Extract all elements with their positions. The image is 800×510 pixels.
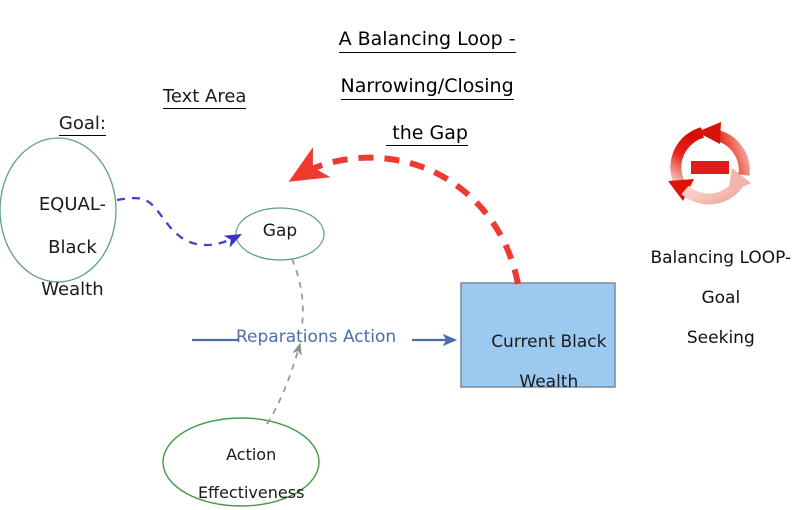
goal-to-gap-dashed-arrow[interactable]	[117, 198, 240, 245]
goal-ellipse-label-line-3: Wealth	[41, 279, 103, 300]
goal-ellipse-label-line-1: EQUAL-	[39, 194, 106, 215]
balancing-loop-caption-line-2: Goal	[701, 288, 740, 308]
loop-minus-sign	[691, 161, 729, 174]
loop-arc-left	[676, 133, 703, 185]
action-effectiveness-label-line-1: Action	[226, 445, 276, 464]
action-effectiveness-ellipse-label: Action Effectiveness Factor	[163, 427, 319, 510]
goal-label: Goal:	[36, 92, 106, 158]
text-area-label-text: Text Area	[163, 86, 247, 109]
current-black-wealth-label-line-2: Wealth	[519, 372, 578, 392]
page-title-line-1: A Balancing Loop -	[339, 28, 516, 52]
balancing-loop-caption-line-3: Seeking	[687, 328, 755, 348]
page-title: A Balancing Loop - Narrowing/Closing the…	[300, 6, 530, 169]
goal-ellipse-label-line-2: Black	[48, 237, 97, 258]
diagram-canvas: A Balancing Loop - Narrowing/Closing the…	[0, 0, 800, 510]
goal-label-text: Goal:	[59, 113, 106, 136]
current-black-wealth-label-line-1: Current Black	[491, 332, 606, 352]
goal-ellipse-label: EQUAL- Black Wealth	[0, 173, 122, 322]
current-black-wealth-box-label: Current Black Wealth	[462, 312, 614, 412]
text-area-label: Text Area	[140, 65, 246, 131]
balancing-loop-icon	[668, 122, 751, 201]
page-title-line-2: Narrowing/Closing	[341, 75, 514, 99]
reparations-action-label: Reparations Action	[236, 327, 396, 347]
loop-arrowhead-top-left	[697, 122, 721, 144]
balancing-loop-caption: Balancing LOOP- Goal Seeking	[620, 228, 800, 368]
action-effectiveness-label-line-2: Effectiveness	[198, 483, 304, 502]
effectiveness-to-action-dashed-arrow[interactable]	[267, 344, 300, 424]
wealth-to-gap-dashed-arrow[interactable]	[300, 158, 518, 284]
balancing-loop-caption-line-1: Balancing LOOP-	[650, 248, 791, 268]
page-title-line-3: the Gap	[386, 122, 468, 146]
gap-to-action-link-dashed[interactable]	[292, 259, 303, 326]
gap-ellipse-label: Gap	[240, 221, 320, 241]
